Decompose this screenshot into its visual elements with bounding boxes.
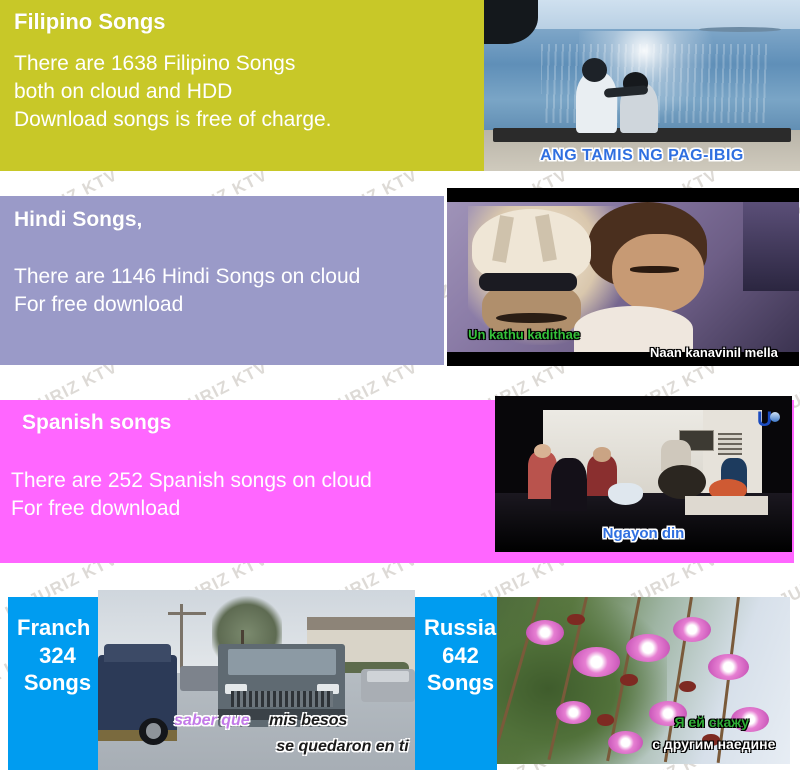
pink-blossom — [649, 701, 687, 726]
russia-songs-badge: Russia 642 Songs — [415, 597, 497, 770]
wall-shelf — [718, 433, 742, 455]
filipino-heading: Filipino Songs — [14, 10, 484, 34]
white-garment — [574, 306, 694, 352]
french-label: Franch — [17, 614, 98, 642]
pink-blossom — [626, 634, 670, 662]
pink-blossom — [556, 701, 591, 724]
parked-car-right-window — [367, 671, 408, 682]
russia-count: 642 — [424, 642, 497, 670]
channel-logo: U — [757, 408, 771, 432]
hindi-description: There are 1146 Hindi Songs on cloud For … — [14, 263, 444, 318]
drum-kit — [658, 465, 706, 499]
french-count: 324 — [17, 642, 98, 670]
russia-video-thumbnail[interactable]: Я ей скажу с другим наедине — [497, 597, 790, 764]
flower-bud — [597, 714, 615, 726]
band-member-2 — [551, 458, 587, 511]
hindi-songs-panel: Hindi Songs, There are 1146 Hindi Songs … — [0, 196, 444, 365]
sunglasses-icon — [479, 273, 578, 291]
spanish-video-thumbnail[interactable]: U Ngayon din — [495, 396, 792, 552]
french-video-thumbnail[interactable]: saber que mis besos se quedaron en ti — [98, 590, 415, 770]
house-roof — [307, 617, 415, 630]
jeep-windshield — [228, 649, 336, 674]
filipino-songs-panel: Filipino Songs There are 1638 Filipino S… — [0, 0, 484, 171]
hindi-heading: Hindi Songs, — [14, 208, 444, 231]
filipino-video-thumbnail[interactable]: ANG TAMIS NG PAG-IBIG — [484, 0, 800, 171]
background-right — [743, 202, 799, 291]
hindi-video-thumbnail[interactable]: Un kathu kadithae Naan kanavinil mella — [447, 188, 799, 366]
white-table — [685, 496, 768, 515]
blue-van-roof — [104, 644, 171, 662]
jeep-grille — [231, 691, 332, 707]
pink-blossom — [573, 647, 620, 677]
flower-bud — [620, 674, 638, 686]
band-member-3-head — [593, 447, 611, 461]
utility-pole-arm — [168, 612, 206, 615]
french-songs-word: Songs — [17, 669, 98, 697]
french-songs-badge: Franch 324 Songs — [8, 597, 98, 770]
russia-songs-word: Songs — [424, 669, 497, 697]
logo-dot-icon — [770, 412, 780, 422]
filipino-description: There are 1638 Filipino Songs both on cl… — [14, 50, 484, 134]
man-moustache — [496, 313, 566, 324]
karaoke-catalog-page: Filipino Songs There are 1638 Filipino S… — [0, 0, 800, 770]
jeep-bumper — [218, 709, 345, 720]
woman-face — [612, 234, 704, 312]
flower-bud — [702, 734, 720, 746]
russia-label: Russia — [424, 614, 497, 642]
pink-blossom — [673, 617, 711, 642]
